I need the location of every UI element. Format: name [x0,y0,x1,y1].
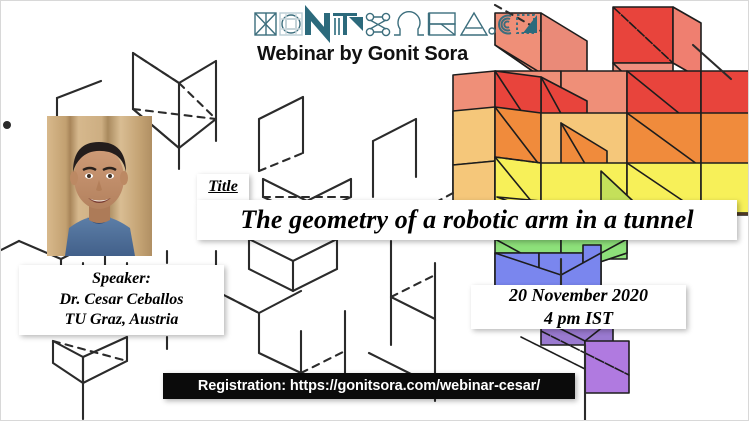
webinar-poster: GONITSORA.COM Webinar by Gonit Sora [0,0,749,421]
speaker-affiliation: TU Graz, Austria [65,310,179,330]
webinar-subtitle: Webinar by Gonit Sora [257,43,468,66]
talk-title-text: The geometry of a robotic arm in a tunne… [240,205,693,235]
speaker-info-box: Speaker: Dr. Cesar Ceballos TU Graz, Aus… [19,265,224,335]
registration-link-bar[interactable]: Registration: https://gonitsora.com/webi… [163,373,575,399]
speaker-photo [47,116,152,256]
event-datetime-box: 20 November 2020 4 pm IST [471,285,686,329]
gonitsora-logo[interactable]: GONITSORA.COM [253,5,538,43]
speaker-heading: Speaker: [92,269,151,289]
talk-title-box: The geometry of a robotic arm in a tunne… [197,200,737,240]
registration-text: Registration: https://gonitsora.com/webi… [198,378,540,394]
title-label-box: Title [197,174,249,200]
avatar [47,116,152,256]
title-label-text: Title [208,178,238,196]
event-time: 4 pm IST [544,307,613,330]
speaker-name: Dr. Cesar Ceballos [59,290,183,310]
event-date: 20 November 2020 [509,284,648,307]
